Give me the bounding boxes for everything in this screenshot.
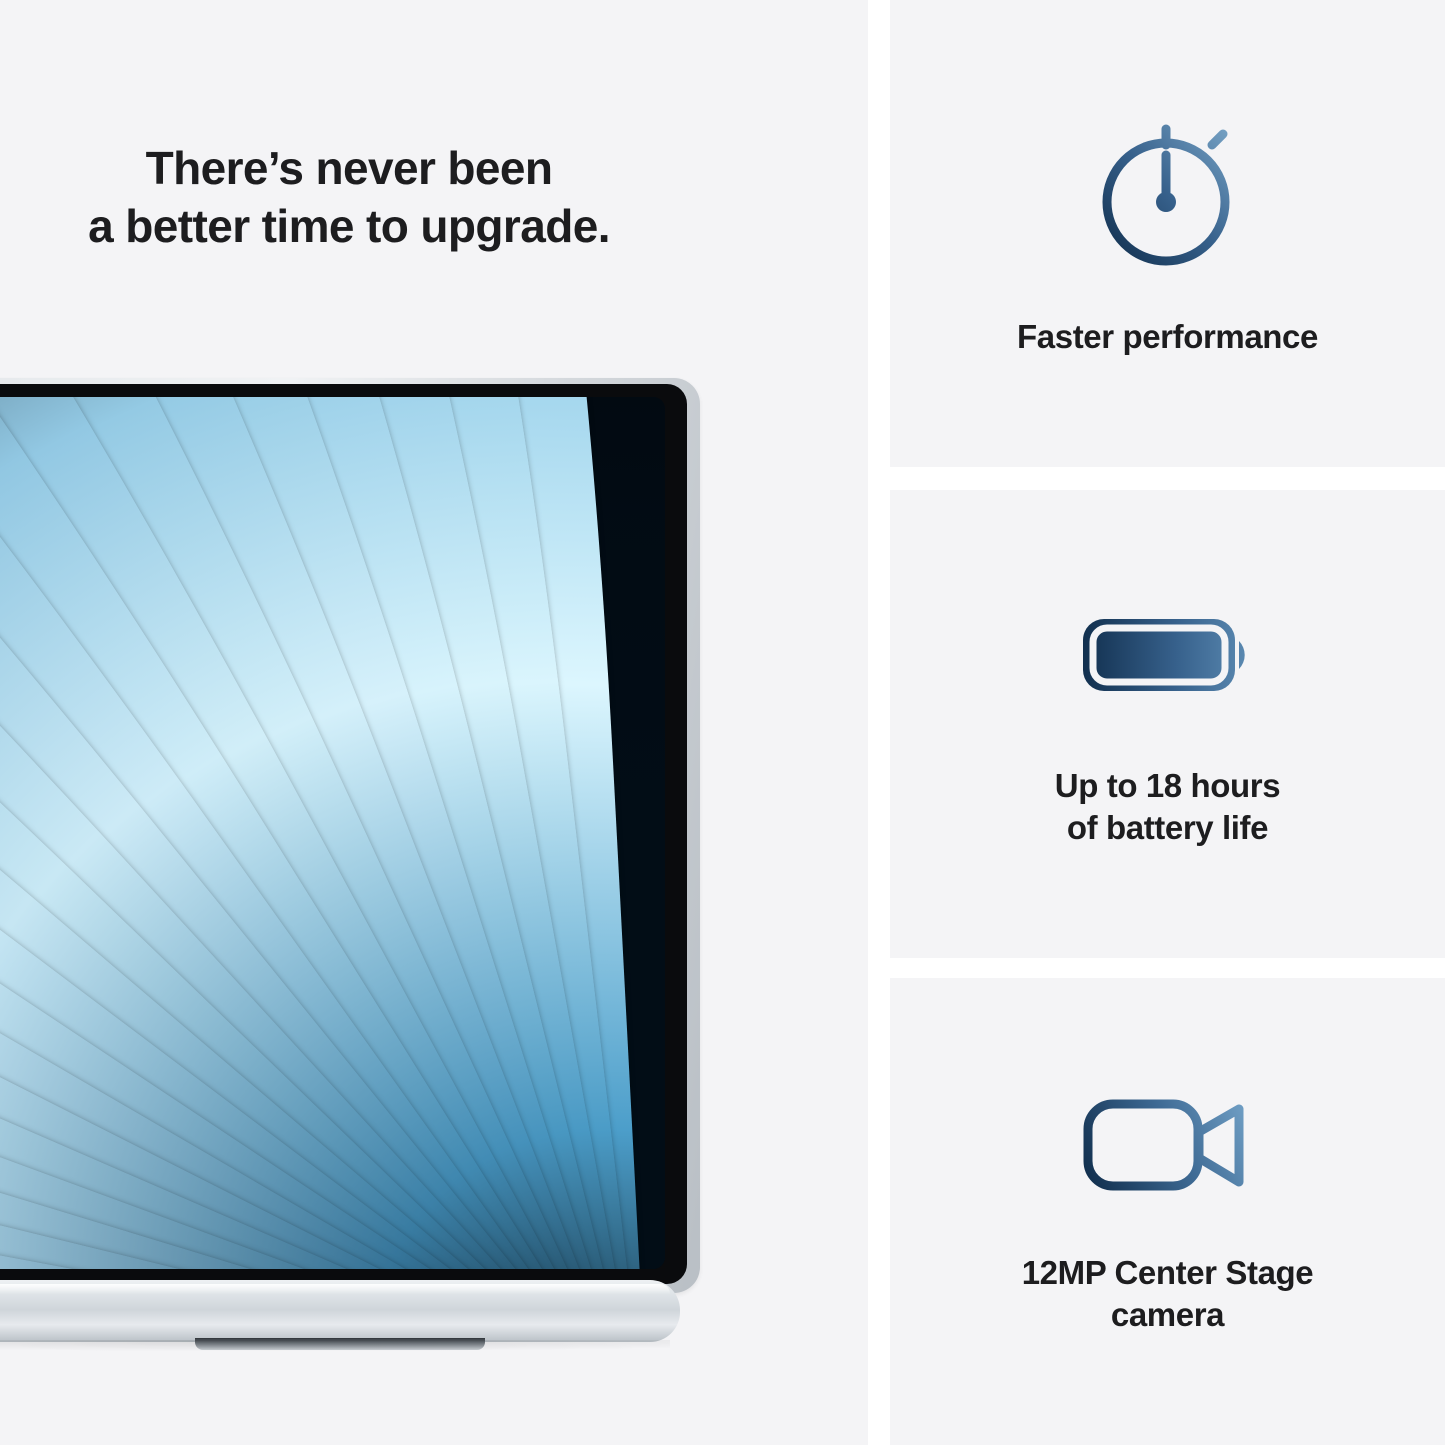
headline-line-1: There’s never been bbox=[146, 142, 553, 194]
feature-card-performance: Faster performance bbox=[890, 0, 1445, 467]
page-title: There’s never been a better time to upgr… bbox=[0, 140, 868, 256]
caption-line-2: of battery life bbox=[1067, 809, 1268, 846]
feature-caption-battery: Up to 18 hours of battery life bbox=[1055, 765, 1280, 849]
caption-line-2: camera bbox=[1111, 1296, 1224, 1333]
feature-card-battery: Up to 18 hours of battery life bbox=[890, 490, 1445, 958]
laptop-base-highlight bbox=[0, 1284, 670, 1294]
laptop-shadow bbox=[0, 1340, 670, 1356]
caption-line-1: 12MP Center Stage bbox=[1022, 1254, 1314, 1291]
macbook-air-image bbox=[0, 378, 700, 1388]
caption-line-1: Faster performance bbox=[1017, 318, 1318, 355]
feature-list: Faster performance bbox=[890, 0, 1445, 1445]
laptop-screen bbox=[0, 397, 665, 1269]
feature-caption-performance: Faster performance bbox=[1017, 316, 1318, 358]
feature-card-camera: 12MP Center Stage camera bbox=[890, 978, 1445, 1445]
stopwatch-icon bbox=[1088, 109, 1248, 274]
battery-icon bbox=[1073, 599, 1263, 709]
caption-line-1: Up to 18 hours bbox=[1055, 767, 1280, 804]
product-panel: There’s never been a better time to upgr… bbox=[0, 0, 868, 1445]
feature-caption-camera: 12MP Center Stage camera bbox=[1022, 1252, 1314, 1336]
headline-line-2: a better time to upgrade. bbox=[0, 198, 698, 256]
promo-page: There’s never been a better time to upgr… bbox=[0, 0, 1445, 1445]
video-camera-icon bbox=[1075, 1087, 1260, 1202]
